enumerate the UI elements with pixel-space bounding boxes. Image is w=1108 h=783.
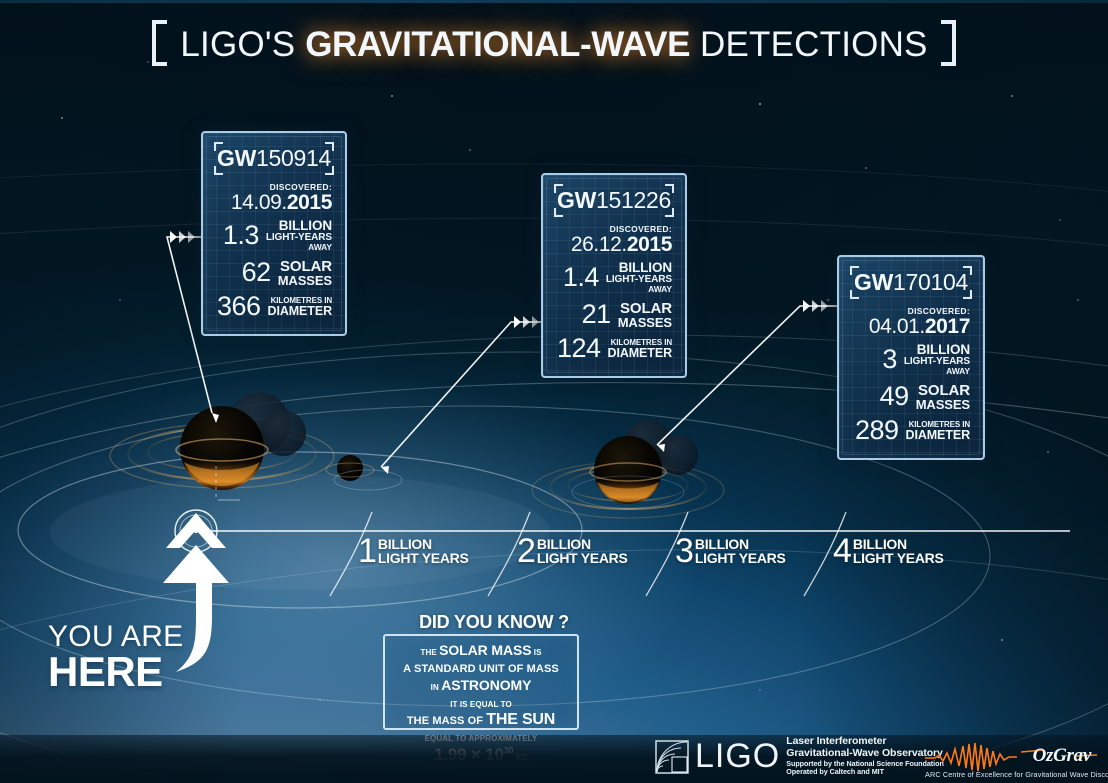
distance-row: 1.3 BILLIONLIGHT-YEARSAWAY [214, 215, 334, 255]
diameter-value: 366 [217, 294, 261, 320]
title-bracket-right-icon [939, 20, 956, 66]
discovery-date-year: 2017 [925, 315, 970, 338]
discovery-row: DISCOVERED: 14.09.2015 [214, 178, 334, 215]
diameter-value: 289 [855, 418, 899, 444]
dyk-line-5: THE MASS OF THE SUN [393, 711, 569, 728]
dyk-l3b: ASTRONOMY [441, 677, 531, 693]
discovery-row: DISCOVERED: 26.12.2015 [554, 220, 674, 257]
dyk-line-3: IN ASTRONOMY [393, 677, 569, 694]
title-bracket-left-icon [152, 20, 169, 66]
dyk-l3a: IN [431, 683, 442, 692]
axis-tick-line2: LIGHT YEARS [695, 551, 786, 565]
dyk-l1b: SOLAR MASS [439, 642, 531, 658]
dyk-l4: IT IS EQUAL TO [450, 700, 512, 709]
mass-row: 21 SOLARMASSES [554, 297, 674, 333]
distance-value: 3 [882, 347, 897, 373]
mass-unit-line2: MASSES [278, 274, 332, 287]
dyk-l5b: THE SUN [486, 711, 555, 728]
detection-id-number: 150914 [256, 145, 331, 171]
detection-card-gw150914[interactable]: GW150914 DISCOVERED: 14.09.2015 1.3 BILL… [201, 131, 347, 336]
detection-id-gw151226: GW151226 [554, 184, 674, 217]
did-you-know-box: THE SOLAR MASS IS A STANDARD UNIT OF MAS… [383, 634, 579, 730]
mass-unit-line1: SOLAR [618, 301, 672, 316]
discovery-date-day: 14.09. [231, 191, 287, 214]
diameter-row: 124 KILOMETRES INDIAMETER [554, 332, 674, 365]
distance-unit-line1: BILLION [266, 219, 332, 233]
corner-bracket-icon [850, 266, 859, 275]
corner-bracket-icon [325, 142, 334, 151]
ligo-line4: Operated by Caltech and MIT [786, 768, 944, 776]
infographic-canvas: LIGO'S GRAVITATIONAL-WAVE DETECTIONS GW1… [0, 0, 1108, 783]
floor-sheen [50, 474, 550, 590]
axis-tick-2: 2 BILLIONLIGHT YEARS [517, 537, 628, 566]
axis-tick-1: 1 BILLIONLIGHT YEARS [358, 537, 469, 566]
corner-bracket-icon [963, 290, 972, 299]
did-you-know-heading: DID YOU KNOW ? [394, 612, 594, 633]
axis-tick-3: 3 BILLIONLIGHT YEARS [675, 537, 786, 566]
detection-card-gw170104[interactable]: GW170104 DISCOVERED: 04.01.2017 3 BILLIO… [837, 255, 985, 460]
mass-unit-line1: SOLAR [278, 259, 332, 274]
title-part-2: GRAVITATIONAL-WAVE [305, 25, 690, 64]
corner-bracket-icon [214, 142, 223, 151]
ligo-wordmark: LIGO [695, 741, 780, 772]
you-are-here-line2: HERE [48, 652, 183, 692]
distance-unit-line3: AWAY [266, 243, 332, 252]
ligo-interferometer-icon [655, 740, 689, 774]
mass-unit-line2: MASSES [618, 316, 672, 329]
distance-unit-line1: BILLION [904, 343, 970, 357]
detection-card-gw151226[interactable]: GW151226 DISCOVERED: 26.12.2015 1.4 BILL… [541, 173, 687, 378]
diameter-unit-line2: DIAMETER [268, 305, 332, 318]
dyk-line-4: IT IS EQUAL TO [393, 694, 569, 711]
page-title: LIGO'S GRAVITATIONAL-WAVE DETECTIONS [0, 22, 1108, 68]
axis-tick-number: 3 [675, 537, 693, 566]
discovery-date-year: 2015 [287, 191, 332, 214]
ligo-logo: LIGO Laser Interferometer Gravitational-… [655, 736, 944, 777]
detection-id-gw150914: GW150914 [214, 142, 334, 175]
diameter-row: 289 KILOMETRES INDIAMETER [850, 414, 972, 447]
mass-value: 49 [880, 384, 909, 410]
dyk-line-2: A STANDARD UNIT OF MASS [393, 659, 569, 676]
dyk-l1a: THE [420, 648, 439, 657]
axis-tick-line2: LIGHT YEARS [853, 551, 944, 565]
ozgrav-logo: OzGrav ARC Centre of Excellence for Grav… [925, 744, 1097, 779]
distance-value: 1.4 [563, 265, 599, 291]
corner-bracket-icon [554, 208, 563, 217]
mass-value: 62 [242, 260, 271, 286]
black-hole-system-2 [532, 420, 724, 518]
axis-tick-line2: LIGHT YEARS [537, 551, 628, 565]
distance-row: 3 BILLIONLIGHT-YEARSAWAY [850, 339, 972, 379]
mass-row: 49 SOLARMASSES [850, 379, 972, 415]
dyk-l2: A STANDARD UNIT OF MASS [403, 663, 559, 675]
mass-value: 21 [582, 302, 611, 328]
diameter-value: 124 [557, 336, 601, 362]
corner-bracket-icon [665, 184, 674, 193]
companion-hole-1b [260, 410, 306, 456]
you-are-here-label: YOU ARE HERE [48, 623, 183, 691]
mass-unit-line2: MASSES [916, 398, 970, 411]
corner-bracket-icon [554, 184, 563, 193]
dyk-line-1: THE SOLAR MASS IS [393, 642, 569, 659]
corner-bracket-icon [850, 290, 859, 299]
title-part-1: LIGO'S [180, 25, 305, 64]
diameter-row: 366 KILOMETRES INDIAMETER [214, 290, 334, 323]
detection-id-number: 151226 [596, 187, 671, 213]
detection-id-number: 170104 [893, 269, 968, 295]
diameter-unit-line2: DIAMETER [906, 429, 970, 442]
corner-bracket-icon [665, 208, 674, 217]
detection-id-prefix: GW [854, 269, 893, 295]
diameter-unit-line2: DIAMETER [608, 347, 672, 360]
dyk-l1c: IS [531, 648, 541, 657]
axis-tick-number: 1 [358, 537, 376, 566]
distance-value: 1.3 [223, 223, 259, 249]
detection-id-gw170104: GW170104 [850, 266, 972, 299]
distance-unit-line3: AWAY [606, 285, 672, 294]
axis-tick-number: 4 [833, 537, 851, 566]
distance-unit-line3: AWAY [904, 367, 970, 376]
axis-tick-line2: LIGHT YEARS [378, 551, 469, 565]
discovery-date-day: 26.12. [571, 233, 627, 256]
distance-unit-line1: BILLION [606, 261, 672, 275]
dyk-l5a: THE MASS OF [407, 715, 486, 727]
title-part-3: DETECTIONS [690, 25, 928, 64]
discovery-row: DISCOVERED: 04.01.2017 [850, 302, 972, 339]
corner-bracket-icon [325, 166, 334, 175]
discovery-date-year: 2015 [627, 233, 672, 256]
discovery-date-day: 04.01. [869, 315, 925, 338]
ligo-subtitle: Laser Interferometer Gravitational-Wave … [786, 736, 944, 777]
axis-tick-number: 2 [517, 537, 535, 566]
mass-row: 62 SOLARMASSES [214, 255, 334, 291]
corner-bracket-icon [963, 266, 972, 275]
distance-row: 1.4 BILLIONLIGHT-YEARSAWAY [554, 257, 674, 297]
corner-bracket-icon [214, 166, 223, 175]
ozgrav-wordmark: OzGrav [1033, 745, 1091, 767]
axis-tick-4: 4 BILLIONLIGHT YEARS [833, 537, 944, 566]
mass-unit-line1: SOLAR [916, 383, 970, 398]
